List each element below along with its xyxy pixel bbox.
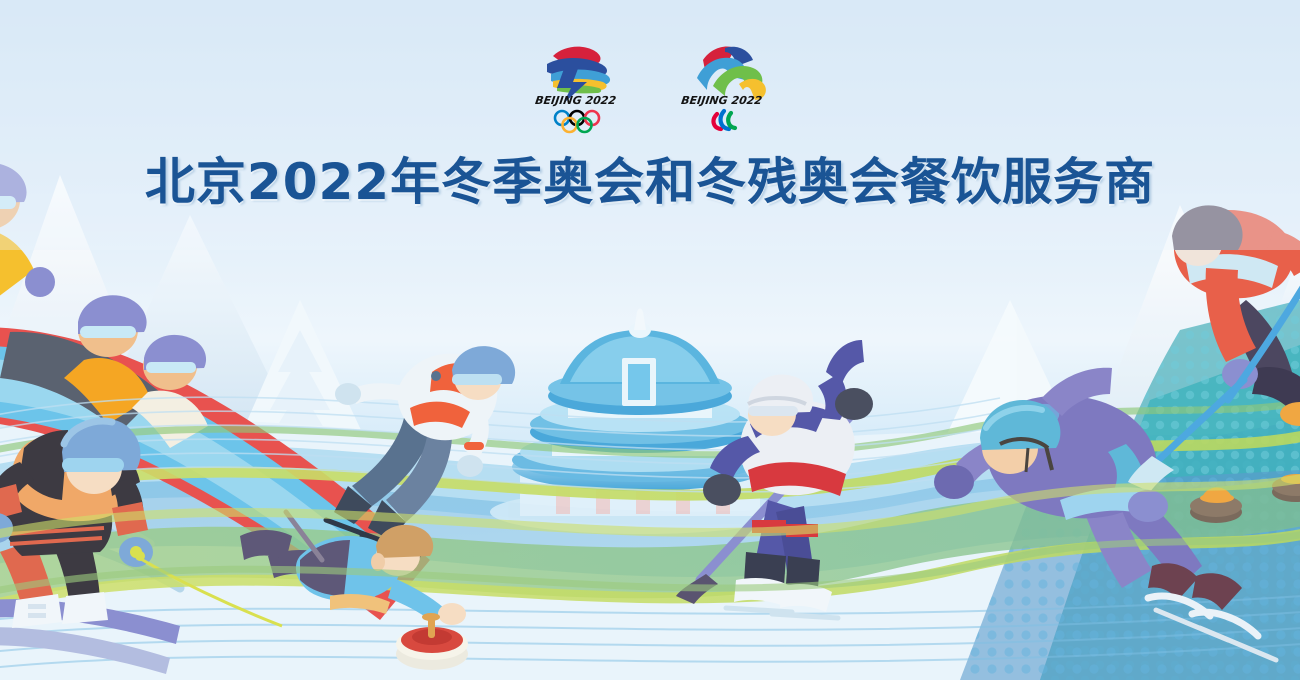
paralympic-emblem: BEIJING 2022: [673, 34, 773, 136]
beijing-2022-banner: BEIJING 2022 BEIJING 2: [0, 0, 1300, 680]
emblem-row: BEIJING 2022 BEIJING 2: [0, 34, 1300, 136]
paralympic-wordmark: BEIJING 2022: [680, 94, 763, 107]
olympic-wordmark: BEIJING 2022: [534, 94, 617, 107]
paralympic-agitos-icon: [714, 111, 735, 129]
olympic-emblem: BEIJING 2022: [527, 34, 627, 136]
olympic-rings-icon: [555, 111, 599, 132]
olympic-emblem-icon: BEIJING 2022: [527, 34, 627, 136]
paralympic-emblem-icon: BEIJING 2022: [673, 34, 773, 136]
